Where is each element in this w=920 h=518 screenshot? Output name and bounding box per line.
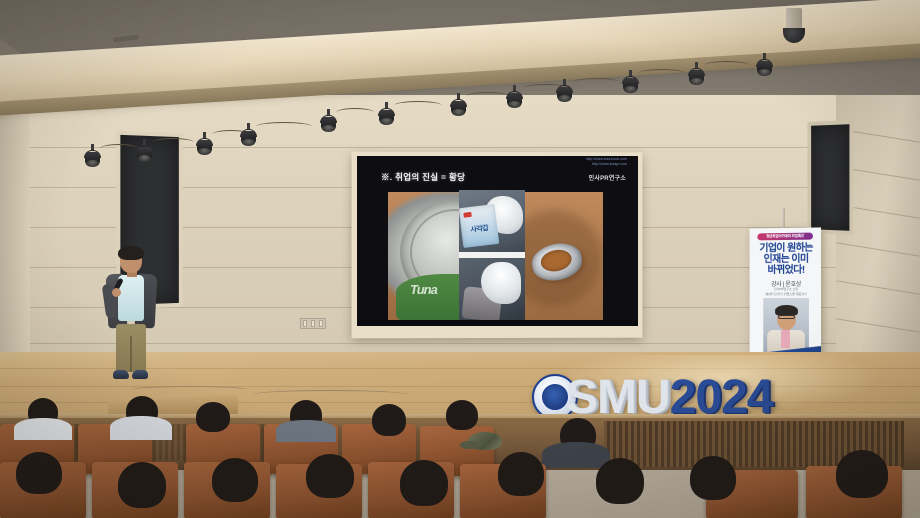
audience-head [446,400,478,430]
audience-head [306,454,354,498]
stage-light-11 [688,66,705,85]
stage-light-9 [556,83,573,102]
banner-speaker-sub: 인사PR연구소 소장 前)메가스터디 취업스쿨 대표강사 [754,287,818,296]
slide-brand: 인사PR연구소 [589,173,626,182]
audience-body [542,442,610,468]
stage-light-6 [378,106,395,125]
banner-headline-3: 바뀌었다! [754,266,818,276]
stage-light-4 [240,127,257,146]
audience-head [400,460,448,506]
audience-head [690,456,736,500]
acoustic-panel-right [807,120,853,235]
glasses-icon [778,315,795,319]
audience-head [16,452,62,494]
banner-pole [782,208,785,230]
audience-head [196,402,230,432]
slide-title: ※. 취업의 진실 = 황당 [381,171,465,183]
stage-light-2 [136,143,153,162]
audience-head [372,404,406,436]
stage-cable [130,386,250,394]
audience-body [14,418,72,440]
audience-cap-icon [468,432,502,450]
audience-body [276,420,336,442]
stage-light-5 [320,113,337,132]
audience-head [212,458,258,502]
slide-url-block: http://www.insa-book.com http://www.insa… [586,157,627,167]
audience-head [118,462,166,508]
projection-screen[interactable]: ※. 취업의 진실 = 황당 인사PR연구소 http://www.insa-b… [357,156,638,326]
banner-headline-1: 기업이 원하는 [754,244,818,255]
stage-light-1 [84,148,101,167]
banner-tag: 청년취업아카데미 취업특강 [757,233,813,241]
audience-body [110,416,172,440]
presenter [96,248,168,384]
banner-headline-2: 인재는 이미 [754,255,818,266]
slide-url-line2: http://www.insapr.com [586,162,627,167]
security-camera-mount [786,8,802,30]
stage-cable-2 [250,390,410,400]
banner-speaker-sub-2: 前)메가스터디 취업스쿨 대표강사 [754,291,818,296]
stage-light-8 [506,89,523,108]
stage-light-3 [196,136,213,155]
audience-head [596,458,644,504]
stage-light-12 [756,57,773,76]
photo-hand-tissue [459,258,525,322]
wall-left-return [0,95,30,395]
stage-light-7 [450,97,467,116]
slide-header: ※. 취업의 진실 = 황당 인사PR연구소 [357,166,638,188]
photo-tissue-box: 사각갑 [459,190,525,254]
stage-light-10 [622,74,639,93]
audience-head [498,452,544,496]
wall-light-switch-panel[interactable] [300,318,326,329]
slide-photo-collage: Tuna 사각갑 [388,192,603,320]
audience-head [836,450,888,498]
auditorium-photo: ※. 취업의 진실 = 황당 인사PR연구소 http://www.insa-b… [0,0,920,518]
